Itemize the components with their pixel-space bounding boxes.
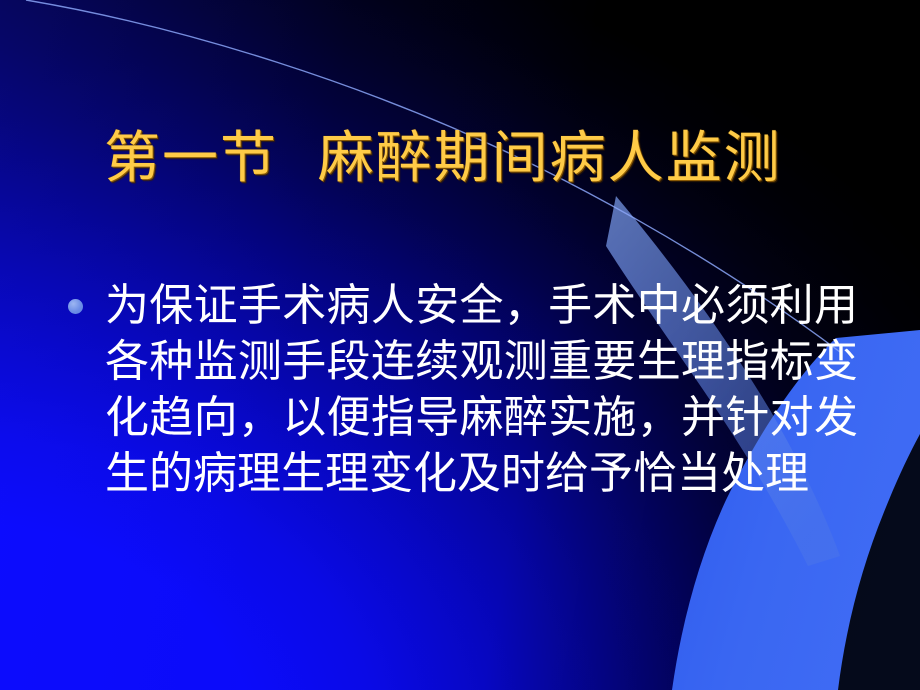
bullet-list-item: 为保证手术病人安全，手术中必须利用各种监测手段连续观测重要生理指标变化趋向，以便…	[68, 278, 858, 502]
slide-title: 第一节 麻醉期间病人监测	[104, 126, 782, 192]
presentation-slide: 第一节 麻醉期间病人监测 为保证手术病人安全，手术中必须利用各种监测手段连续观测…	[0, 0, 920, 690]
bullet-text: 为保证手术病人安全，手术中必须利用各种监测手段连续观测重要生理指标变化趋向，以便…	[105, 278, 858, 502]
bullet-point-icon	[68, 299, 83, 314]
